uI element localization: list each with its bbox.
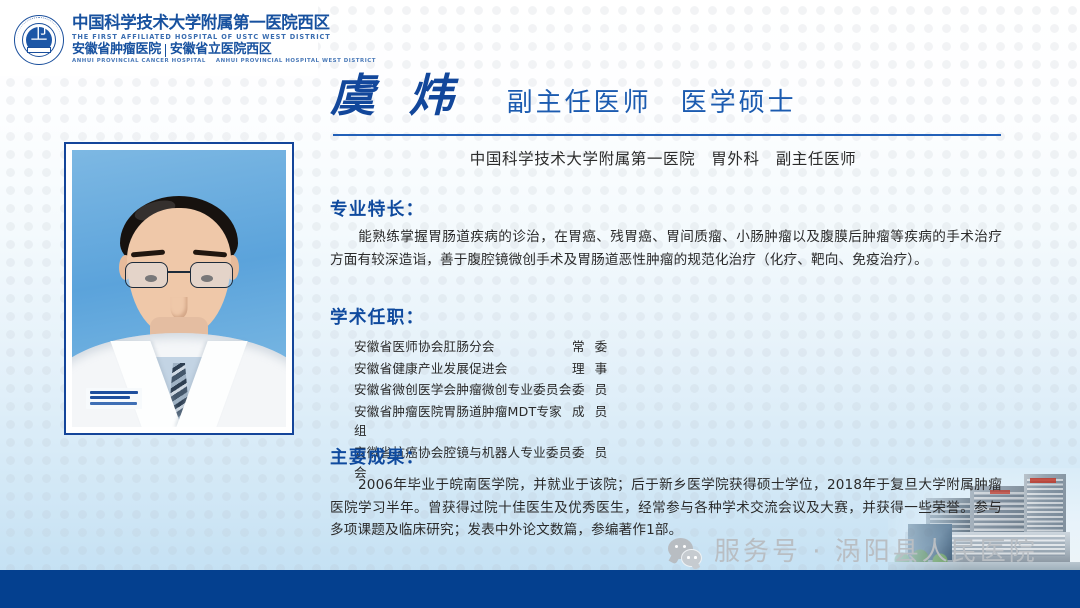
- list-item: 安徽省健康产业发展促进会 理 事: [354, 359, 1002, 379]
- wechat-account-label: 服务号 · 涡阳县人民医院: [714, 537, 1038, 567]
- portrait-glasses-icon: [125, 262, 233, 289]
- academic-org: 安徽省医师协会肛肠分会: [354, 337, 572, 357]
- seal-glyph: 卫: [14, 26, 64, 43]
- section-specialty-heading: 专业特长：: [330, 198, 1002, 222]
- academic-role: 委 员: [572, 380, 610, 400]
- doctor-portrait-frame: [64, 142, 294, 435]
- doctor-name: 虞 炜: [330, 72, 463, 120]
- section-results-body: 2006年毕业于皖南医学院，并就业于该院；后于新乡医学院获得硕士学位，2018年…: [330, 474, 1002, 542]
- logo-cn-sub-right: 安徽省立医院西区: [170, 42, 272, 57]
- specialty-text: 能熟练掌握胃肠道疾病的诊治，在胃癌、残胃癌、胃间质瘤、小肠肿瘤以及腹膜后肿瘤等疾…: [330, 229, 1002, 268]
- section-results: 主要成果： 2006年毕业于皖南医学院，并就业于该院；后于新乡医学院获得硕士学位…: [330, 446, 1002, 542]
- results-text: 2006年毕业于皖南医学院，并就业于该院；后于新乡医学院获得硕士学位，2018年…: [330, 477, 1002, 538]
- section-specialty: 专业特长： 能熟练掌握胃肠道疾病的诊治，在胃癌、残胃癌、胃间质瘤、小肠肿瘤以及腹…: [330, 198, 1002, 271]
- logo-cn-sub-left: 安徽省肿瘤医院: [72, 42, 161, 57]
- list-item: 安徽省微创医学会肿瘤微创专业委员会 委 员: [354, 380, 1002, 400]
- portrait-nose: [171, 297, 188, 319]
- academic-role: 成 员: [572, 402, 610, 422]
- doctor-portrait-photo: [72, 150, 286, 427]
- list-item: 安徽省医师协会肛肠分会 常 委: [354, 337, 1002, 357]
- logo-en-sub-left: ANHUI PROVINCIAL CANCER HOSPITAL: [72, 58, 206, 65]
- hospital-seal-icon: 卫: [14, 15, 64, 65]
- wechat-icon: [668, 538, 702, 567]
- profile-content: 虞 炜 副主任医师 医学硕士 中国科学技术大学附属第一医院 胃外科 副主任医师 …: [325, 0, 1025, 608]
- doctor-affiliation: 中国科学技术大学附属第一医院 胃外科 副主任医师: [325, 148, 1001, 170]
- section-academic-heading: 学术任职：: [330, 306, 1002, 330]
- academic-org: 安徽省微创医学会肿瘤微创专业委员会: [354, 380, 572, 400]
- logo-divider: [165, 44, 166, 57]
- title-divider-rule: [333, 134, 1001, 136]
- name-and-titles-row: 虞 炜 副主任医师 医学硕士: [330, 72, 797, 120]
- section-specialty-body: 能熟练掌握胃肠道疾病的诊治，在胃癌、残胃癌、胃间质瘤、小肠肿瘤以及腹膜后肿瘤等疾…: [330, 226, 1002, 271]
- academic-role: 理 事: [572, 359, 610, 379]
- academic-role: 常 委: [572, 337, 610, 357]
- list-item: 安徽省肿瘤医院胃肠道肿瘤MDT专家组 成 员: [354, 402, 1002, 441]
- academic-org: 安徽省肿瘤医院胃肠道肿瘤MDT专家组: [354, 402, 572, 441]
- hospital-logo: 卫 中国科学技术大学附属第一医院西区 THE FIRST AFFILIATED …: [14, 14, 376, 65]
- portrait-name-badge: [86, 388, 142, 409]
- wechat-account-watermark: 服务号 · 涡阳县人民医院: [668, 537, 1038, 567]
- section-results-heading: 主要成果：: [330, 446, 1002, 470]
- bottom-blue-bar: [0, 570, 1080, 608]
- doctor-profile-slide: 卫 中国科学技术大学附属第一医院西区 THE FIRST AFFILIATED …: [0, 0, 1080, 608]
- doctor-titles: 副主任医师 医学硕士: [507, 88, 797, 118]
- academic-org: 安徽省健康产业发展促进会: [354, 359, 572, 379]
